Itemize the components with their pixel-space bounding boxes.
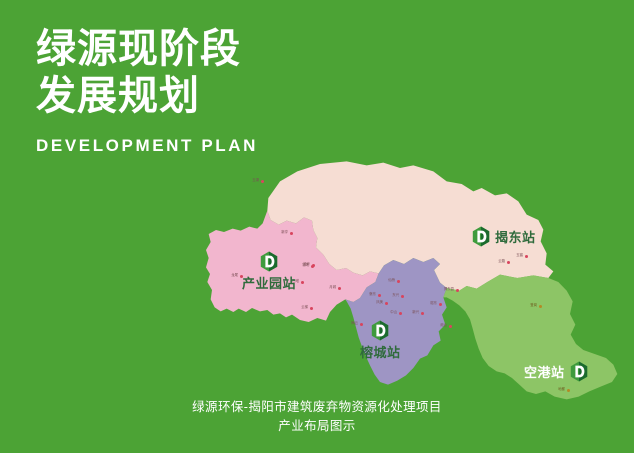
town-dot [399, 312, 402, 315]
town-dot [338, 287, 341, 290]
caption-block: 绿源环保-揭阳市建筑废弃物资源化处理项目 产业布局图示 [0, 398, 634, 437]
town-label: 玉湖 [252, 179, 261, 182]
town-dot [507, 261, 510, 264]
town-label: 玉窖 [516, 254, 525, 257]
town-dot [310, 307, 313, 310]
station-marker-konggang[interactable]: 空港站 [524, 361, 588, 382]
town-label: 锡场 [302, 264, 311, 267]
town-dot [439, 303, 442, 306]
station-label-chanyeyuan: 产业园站 [242, 273, 296, 292]
station-label-jiedong: 揭东站 [495, 227, 536, 246]
lvyuan-leaf-logo-icon [472, 226, 490, 247]
town-label: 仙桥 [388, 279, 397, 282]
town-dot [301, 281, 304, 284]
town-label: 榕东 [430, 302, 439, 305]
lvyuan-leaf-logo-icon [260, 251, 278, 272]
town-dot [397, 280, 400, 283]
town-label: 中山 [390, 311, 399, 314]
town-label: 揭东县 [444, 288, 456, 291]
station-marker-rongcheng[interactable]: 榕城站 [360, 320, 401, 361]
town-dot [456, 289, 459, 292]
town-label: 月城 [329, 286, 338, 289]
town-label: 东兴 [392, 294, 401, 297]
poster-root: 绿源现阶段 发展规划 DEVELOPMENT PLAN 玉湖 新亨 桂岭 云路 [0, 0, 634, 453]
lvyuan-leaf-logo-icon [371, 320, 389, 341]
station-marker-jiedong[interactable]: 揭东站 [472, 226, 536, 247]
town-dot [261, 180, 264, 183]
town-label: 登岗 [530, 304, 539, 307]
town-dot [290, 232, 293, 235]
town-label: 地都 [558, 388, 567, 391]
title-block: 绿源现阶段 发展规划 DEVELOPMENT PLAN [36, 26, 366, 156]
town-dot [525, 255, 528, 258]
map-container: 玉湖 新亨 桂岭 云路 玉窖 揭东县 龙尾 锡场 白塔 月城 云梯 磐东 [180, 158, 634, 410]
town-dot [539, 305, 542, 308]
town-dot [311, 265, 314, 268]
page-subtitle: DEVELOPMENT PLAN [36, 136, 366, 156]
town-label: 云路 [498, 260, 507, 263]
station-marker-chanyeyuan[interactable]: 产业园站 [242, 251, 296, 292]
town-label: 梅云 [351, 322, 360, 325]
town-label: 云梯 [301, 306, 310, 309]
lvyuan-leaf-logo-icon [570, 361, 588, 382]
caption-line-2: 产业布局图示 [0, 417, 634, 436]
caption-line-1: 绿源环保-揭阳市建筑废弃物资源化处理项目 [0, 398, 634, 417]
town-label: 凤美 [376, 301, 385, 304]
town-label: 磐东 [369, 293, 378, 296]
page-title-line-2: 发展规划 [36, 73, 366, 120]
page-title-line-1: 绿源现阶段 [36, 26, 366, 73]
town-label: 龙尾 [231, 274, 240, 277]
town-label: 新亨 [281, 231, 290, 234]
station-label-konggang: 空港站 [524, 362, 565, 381]
town-dot [378, 294, 381, 297]
town-dot [385, 302, 388, 305]
town-label: 炮台 [440, 324, 449, 327]
town-dot [567, 389, 570, 392]
town-label: 新兴 [412, 311, 421, 314]
station-label-rongcheng: 榕城站 [360, 342, 401, 361]
town-dot [401, 295, 404, 298]
town-dot [449, 325, 452, 328]
town-dot [421, 312, 424, 315]
